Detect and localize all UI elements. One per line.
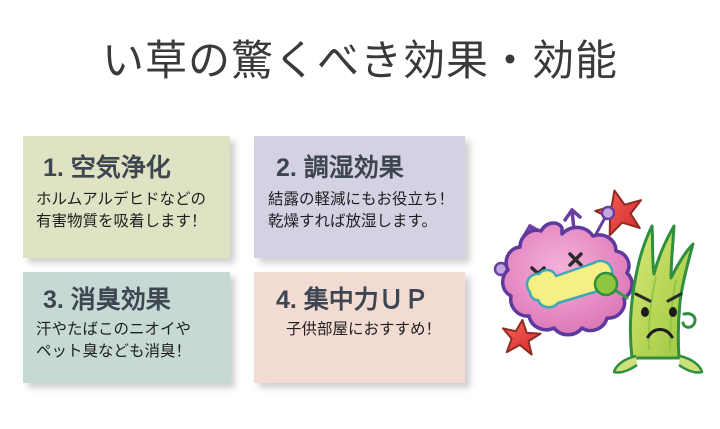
benefit-card-heading: 2. 調湿効果 [276,154,465,182]
benefit-card-body: 汗やたばこのニオイや ペット臭なども消臭！ [36,319,230,363]
page-title: い草の驚くべき効果・効能 [0,36,720,88]
benefit-card-body: 結露の軽減にもお役立ち！ 乾燥すれば放湿します。 [268,189,465,233]
benefit-card-heading: 3. 消臭効果 [43,286,230,314]
benefit-card-heading: 1. 空気浄化 [43,154,230,182]
poster-canvas: い草の驚くべき効果・効能 1. 空気浄化 ホルムアルデヒドなどの 有害物質を吸着… [0,0,720,429]
benefit-card-heading: 4. 集中力ＵＰ [276,286,465,314]
benefit-card-air-purification: 1. 空気浄化 ホルムアルデヒドなどの 有害物質を吸着します！ [23,136,230,258]
benefit-card-humidity-control: 2. 調湿効果 結露の軽減にもお役立ち！ 乾燥すれば放湿します。 [254,136,465,258]
illustration-germ-vs-igusa [484,182,716,382]
benefit-card-body: 子供部屋におすすめ！ [286,319,465,341]
benefit-card-deodorizing: 3. 消臭効果 汗やたばこのニオイや ペット臭なども消臭！ [23,272,230,383]
benefit-card-concentration-up: 4. 集中力ＵＰ 子供部屋におすすめ！ [254,272,465,383]
benefit-card-body: ホルムアルデヒドなどの 有害物質を吸着します！ [36,189,230,233]
